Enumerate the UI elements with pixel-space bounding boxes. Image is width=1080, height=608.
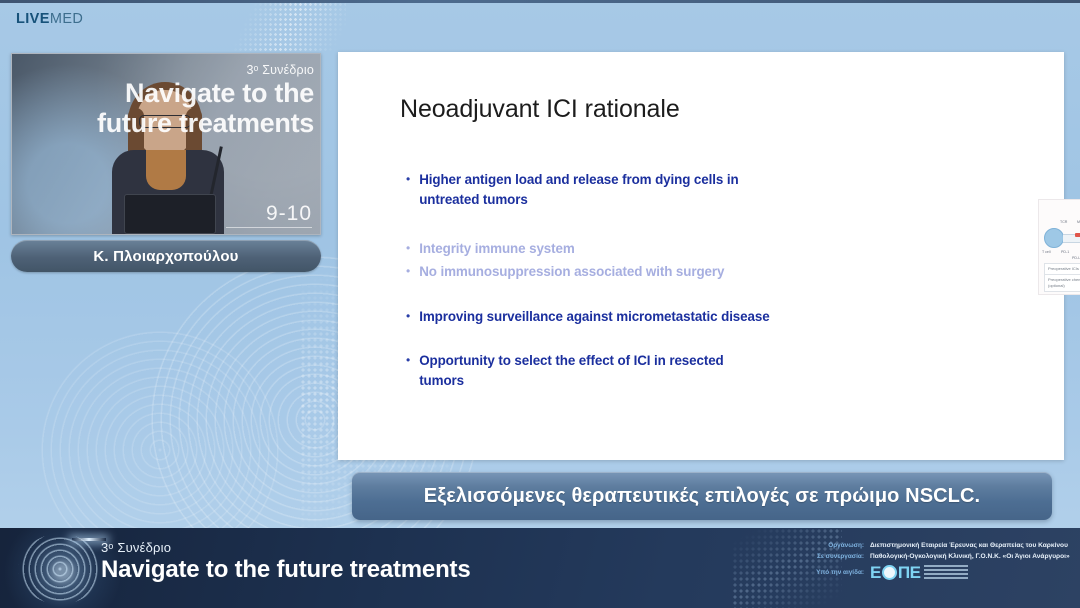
bullet-marker-icon: • [406,170,410,188]
footer-coop-label: Σε συνεργασία: [800,553,864,560]
congress-footer: 3ᵒ Συνέδριο Navigate to the future treat… [0,528,1080,608]
speaker-scarf [146,150,186,190]
eope-letter-e: Ε [870,564,881,581]
footer-org-value: Διεπιστημονική Εταιρεία Έρευνας και Θερα… [870,542,1068,549]
livemed-player-page: LIVEMED 3ᵒ Συνέδριο Navigate to the futu… [0,0,1080,608]
top-rim [0,0,1080,3]
eope-logo: Ε ΠΕ [870,564,968,581]
bullet-marker-icon: • [406,262,410,280]
presentation-slide[interactable]: Neoadjuvant ICI rationale • Higher antig… [338,52,1064,460]
footer-org-label: Οργάνωση: [800,542,864,549]
eope-letters-pe: ΠΕ [898,564,921,581]
logo-med-text: MED [50,11,83,27]
livemed-logo[interactable]: LIVEMED [16,11,83,27]
bullet-marker-icon: • [406,239,410,257]
bullet-text: Integrity immune system [419,239,574,259]
t-cell-shape [1044,228,1064,248]
eope-globe-icon [882,565,897,580]
footer-aegis-label: Υπό την αιγίδα: [800,569,864,576]
diagram-box-preoperative-chemo: Preoperative chemotherapy (optional) [1044,274,1080,292]
eope-subtext-decor [924,565,968,580]
bullet-text: Opportunity to select the effect of ICI … [419,351,766,391]
footer-coop-row: Σε συνεργασία: Παθολογική-Ογκολογική Κλι… [800,553,1076,560]
video-title-line1: Navigate to the [12,79,314,107]
footer-credits: Οργάνωση: Διεπιστημονική Εταιρεία Έρευνα… [800,542,1076,585]
bullet-text: Improving surveillance against micrometa… [419,307,769,327]
footer-congress-label: 3ᵒ Συνέδριο [101,540,470,555]
laptop [124,194,216,234]
session-title-text: Εξελισσόμενες θεραπευτικές επιλογές σε π… [424,485,980,508]
slide-bullet-list: • Higher antigen load and release from d… [406,170,766,394]
label-pd1: PD-1 [1061,250,1069,254]
footer-org-row: Οργάνωση: Διεπιστημονική Εταιρεία Έρευνα… [800,542,1076,549]
footer-aegis-row: Υπό την αιγίδα: Ε ΠΕ [800,564,1076,581]
speaker-name-bar: Κ. Πλοιαρχοπούλου [11,240,321,272]
video-date-rule [226,227,312,228]
immune-synapse-diagram: TCR MHC II T cell PD-1 Cancer PD-L1 Preo… [1038,199,1080,295]
label-t-cell: T cell [1042,250,1051,254]
congress-logo-icon [18,534,102,604]
bullet-marker-icon: • [406,351,410,369]
dot-wave-decor-top [228,2,346,52]
slide-bullet-2: • Integrity immune system [406,239,766,259]
slide-title: Neoadjuvant ICI rationale [400,95,680,124]
slide-bullet-3: • No immunosuppression associated with s… [406,262,806,282]
slide-bullet-5: • Opportunity to select the effect of IC… [406,351,766,391]
video-title-line2: future treatments [12,109,314,137]
video-congress-label: 3ᵒ Συνέδριο [12,64,314,77]
bullet-text: Higher antigen load and release from dyi… [419,170,766,210]
video-banner-text: 3ᵒ Συνέδριο Navigate to the future treat… [12,64,314,138]
bullet-marker-icon: • [406,307,410,325]
slide-bullet-4: • Improving surveillance against microme… [406,307,806,327]
label-pdl1: PD-L1 [1072,256,1080,260]
label-tcr: TCR [1060,220,1067,224]
synapse-highlight [1075,233,1080,237]
video-player-thumbnail[interactable]: 3ᵒ Συνέδριο Navigate to the future treat… [11,53,321,235]
footer-coop-value: Παθολογική-Ογκολογική Κλινική, Γ.Ο.Ν.Κ. … [870,553,1070,560]
slide-bullet-1: • Higher antigen load and release from d… [406,170,766,210]
speaker-name: Κ. Πλοιαρχοπούλου [93,248,238,265]
bullet-text: No immunosuppression associated with sur… [419,262,724,282]
session-title-banner: Εξελισσόμενες θεραπευτικές επιλογές σε π… [352,472,1052,520]
footer-title-group: 3ᵒ Συνέδριο Navigate to the future treat… [101,540,470,584]
video-date: 9-10 [266,202,312,226]
logo-live-text: LIVE [16,11,50,27]
footer-congress-title: Navigate to the future treatments [101,556,470,584]
